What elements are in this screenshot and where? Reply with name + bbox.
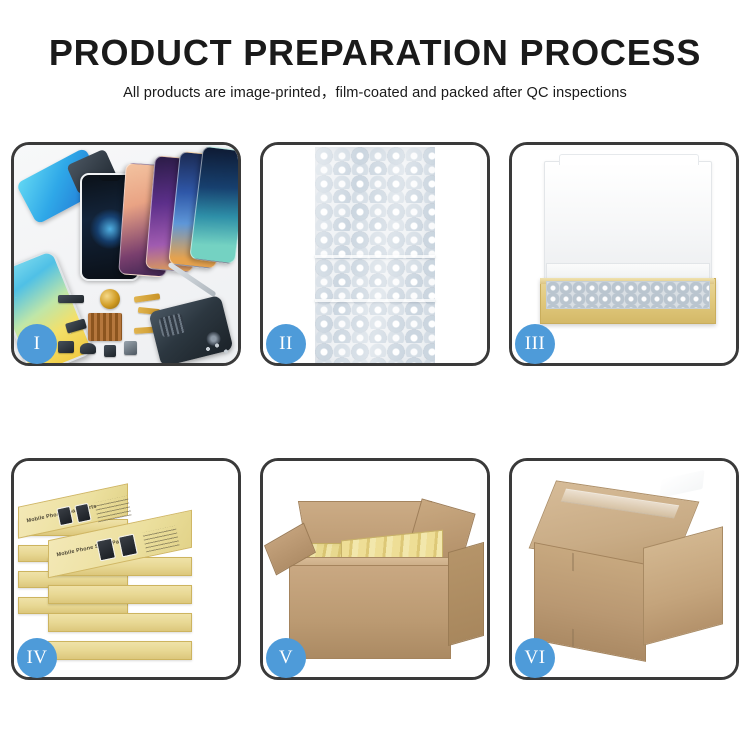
carton-side-face — [643, 526, 723, 645]
wrap-sheen — [315, 147, 435, 363]
step-badge-6: VI — [515, 638, 555, 678]
carton-seam — [572, 553, 574, 571]
carton-front-face — [534, 542, 646, 662]
product-preparation-infographic: PRODUCT PREPARATION PROCESS All products… — [0, 0, 750, 750]
step-badge-3: III — [515, 324, 555, 364]
stacked-box — [48, 613, 192, 632]
process-step-4: Mobile Phone Spare Parts Mobile Phone Sp… — [11, 458, 241, 680]
connector-part-icon — [58, 341, 74, 353]
flex-cable-icon — [134, 293, 161, 303]
tape-tail — [659, 470, 704, 498]
page-title: PRODUCT PREPARATION PROCESS — [0, 34, 750, 72]
process-step-1: I — [11, 142, 241, 366]
carton-seam — [572, 629, 574, 647]
bubble-wrapped-contents — [546, 281, 710, 309]
header: PRODUCT PREPARATION PROCESS All products… — [0, 34, 750, 102]
speaker-part-icon — [80, 343, 96, 354]
step-badge-1: I — [17, 324, 57, 364]
process-step-6: VI — [509, 458, 739, 680]
carton-front-face — [289, 565, 451, 659]
camera-part-icon — [104, 345, 116, 357]
stacked-box — [48, 641, 192, 660]
process-step-3: III — [509, 142, 739, 366]
process-step-5: V — [260, 458, 490, 680]
step-badge-4: IV — [17, 638, 57, 678]
copper-coil-icon — [100, 289, 120, 309]
process-step-2: II — [260, 142, 490, 366]
process-step-grid: I II III — [11, 142, 739, 680]
carton-side-face — [448, 542, 484, 646]
battery-part-icon — [124, 341, 137, 355]
bubble-wrap-strip — [315, 147, 435, 363]
page-subtitle: All products are image-printed，film-coat… — [0, 81, 750, 102]
step-badge-5: V — [266, 638, 306, 678]
chip-grid-icon — [88, 313, 122, 341]
screws-icon — [204, 343, 230, 355]
stacked-box — [48, 585, 192, 604]
step-badge-2: II — [266, 324, 306, 364]
connector-part-icon — [58, 295, 84, 303]
